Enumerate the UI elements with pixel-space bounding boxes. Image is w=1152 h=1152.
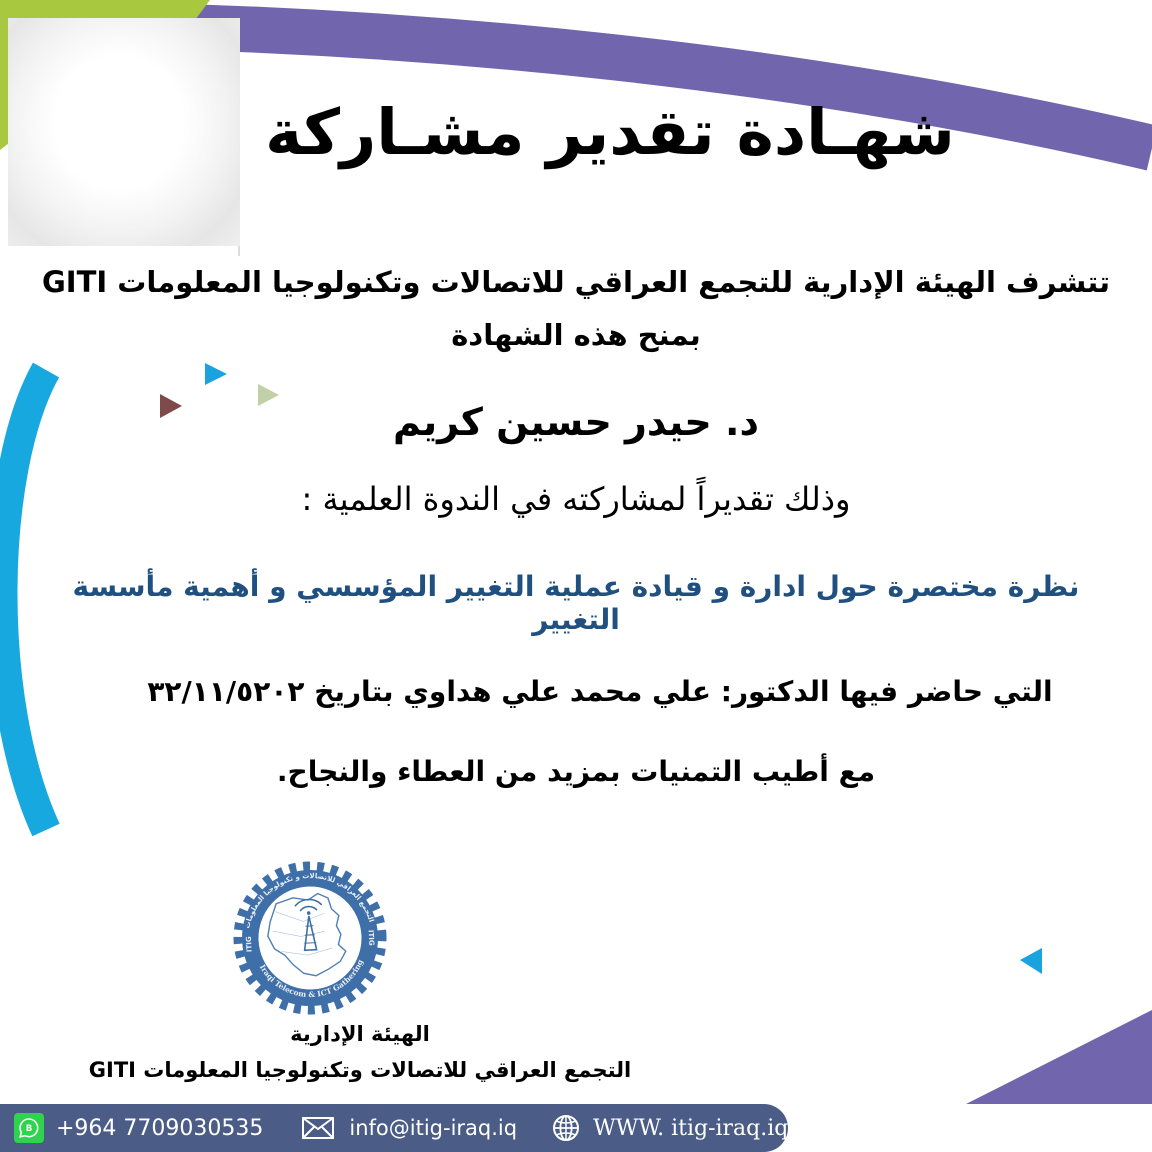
footer-website-item[interactable]: WWW. itig-iraq.iq: [551, 1113, 788, 1143]
footer-phone-item[interactable]: B +964 7709030535: [14, 1113, 301, 1143]
stamp-abbr-left: ITIG: [245, 936, 254, 952]
footer-website-text: WWW. itig-iraq.iq: [593, 1116, 788, 1141]
footer-email-text: info@itig-iraq.iq: [349, 1116, 517, 1140]
itig-stamp-logo: التجمع العراقي للاتصالات و تكنولوجيا الم…: [224, 854, 396, 1022]
logo-background: [8, 18, 240, 246]
wishes-line: مع أطيب التمنيات بمزيد من العطاء والنجاح…: [236, 755, 916, 788]
lecturer-and-date-line: التي حاضر فيها الدكتور: علي محمد علي هدا…: [120, 675, 1080, 708]
triangle-cyan-left-icon: [1020, 948, 1042, 974]
purple-wedge-bottom-right-2: [966, 1010, 1152, 1104]
footer-email-item[interactable]: info@itig-iraq.iq: [301, 1115, 551, 1141]
contact-footer-bar: B +964 7709030535 info@itig-iraq.iq: [0, 1104, 788, 1152]
seminar-title: نظرة مختصرة حول ادارة و قيادة عملية التغ…: [30, 570, 1122, 636]
envelope-icon[interactable]: [301, 1115, 335, 1141]
intro-line-2: بمنح هذه الشهادة: [36, 318, 1116, 352]
whatsapp-business-icon[interactable]: B: [14, 1113, 44, 1143]
whatsapp-glyph: B: [18, 1117, 40, 1139]
triangle-maroon-icon: [160, 394, 182, 418]
page-title: شهـادة تقدير مشـاركة: [250, 100, 970, 166]
triangle-cyan-icon: [205, 363, 227, 385]
stamp-abbr-right: ITIG: [367, 930, 376, 946]
intro-line-1: تتشرف الهيئة الإدارية للتجمع العراقي للا…: [36, 263, 1116, 302]
svg-text:B: B: [26, 1124, 33, 1134]
signature-role: الهيئة الإدارية: [150, 1022, 570, 1046]
signature-organization: التجمع العراقي للاتصالات وتكنولوجيا المع…: [40, 1058, 680, 1082]
itig-logo: التجمع العراقي للاتصالات و تكنولوجيا الم…: [8, 18, 240, 246]
footer-phone-text: +964 7709030535: [56, 1116, 263, 1141]
globe-icon[interactable]: [551, 1113, 581, 1143]
reason-line: وذلك تقديراً لمشاركته في الندوة العلمية …: [256, 480, 896, 518]
purple-wedge-bottom-right: [976, 1040, 1152, 1104]
itig-stamp-graphic: التجمع العراقي للاتصالات و تكنولوجيا الم…: [224, 854, 396, 1022]
recipient-name: د. حيدر حسين كريم: [276, 400, 876, 444]
certificate-page: التجمع العراقي للاتصالات و تكنولوجيا الم…: [0, 0, 1152, 1152]
